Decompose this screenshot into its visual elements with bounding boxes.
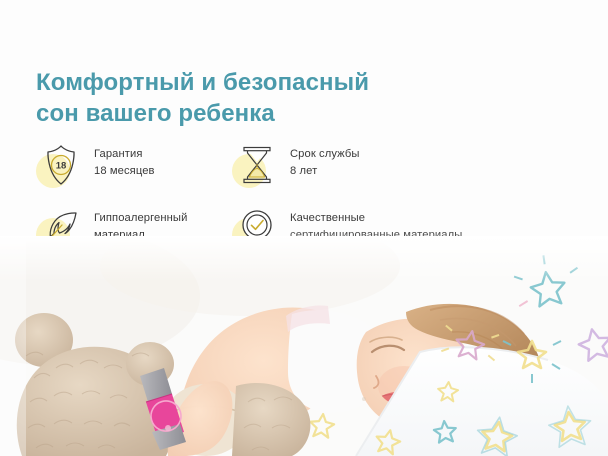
feature-warranty-text: Гарантия 18 месяцев <box>94 140 155 180</box>
hero-photo <box>0 236 608 456</box>
feature-warranty: 18 Гарантия 18 месяцев <box>36 140 232 190</box>
hourglass-icon <box>232 140 282 190</box>
headline-line-2: сон вашего ребенка <box>36 99 466 130</box>
headline-line-1: Комфортный и безопасный <box>36 68 466 99</box>
shield-18-icon: 18 <box>36 140 86 190</box>
feature-lifespan-text: Срок службы 8 лет <box>290 140 360 180</box>
page-title: Комфортный и безопасный сон вашего ребен… <box>36 68 466 129</box>
shield-badge-number: 18 <box>56 161 67 172</box>
feature-lifespan: Срок службы 8 лет <box>232 140 536 190</box>
promo-banner: Комфортный и безопасный сон вашего ребен… <box>0 0 608 456</box>
